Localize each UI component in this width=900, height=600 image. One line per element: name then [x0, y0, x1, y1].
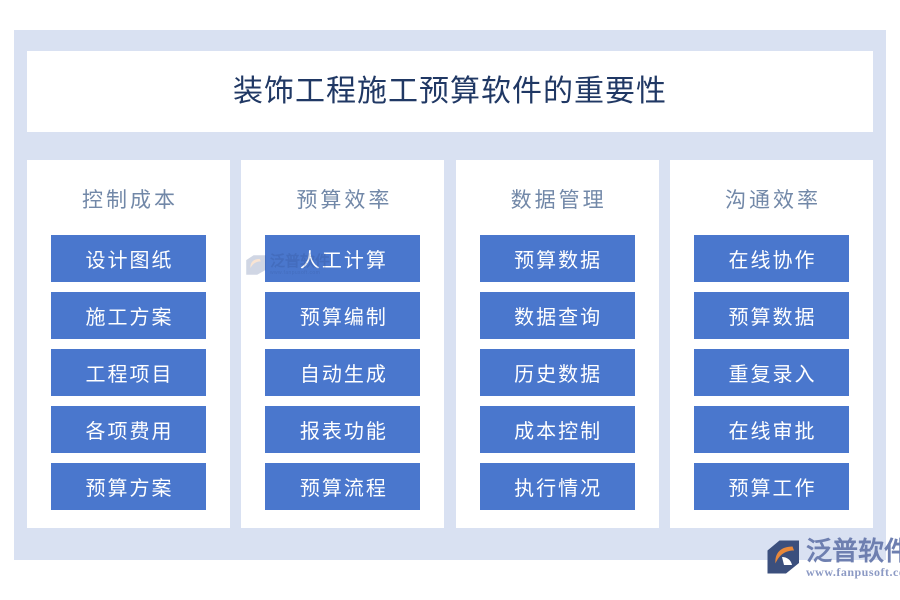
- columns-container: 控制成本 设计图纸 施工方案 工程项目 各项费用 预算方案 预算效率 人工计算 …: [27, 160, 873, 528]
- item-button[interactable]: 预算工作: [694, 463, 849, 510]
- item-button[interactable]: 预算数据: [694, 292, 849, 339]
- column-card-3: 数据管理 预算数据 数据查询 历史数据 成本控制 执行情况: [456, 160, 659, 528]
- item-button[interactable]: 预算数据: [480, 235, 635, 282]
- column-heading-3: 数据管理: [508, 190, 607, 211]
- column-items-4: 在线协作 预算数据 重复录入 在线审批 预算工作: [694, 235, 849, 510]
- item-button[interactable]: 重复录入: [694, 349, 849, 396]
- column-heading-2: 预算效率: [293, 190, 392, 211]
- title-card: 装饰工程施工预算软件的重要性: [27, 51, 873, 132]
- item-button[interactable]: 工程项目: [51, 349, 206, 396]
- column-heading-1: 控制成本: [79, 190, 178, 211]
- column-card-1: 控制成本 设计图纸 施工方案 工程项目 各项费用 预算方案: [27, 160, 230, 528]
- column-card-4: 沟通效率 在线协作 预算数据 重复录入 在线审批 预算工作: [670, 160, 873, 528]
- item-button[interactable]: 设计图纸: [51, 235, 206, 282]
- column-items-3: 预算数据 数据查询 历史数据 成本控制 执行情况: [480, 235, 635, 510]
- fanpu-logo-icon: [766, 539, 802, 575]
- column-items-1: 设计图纸 施工方案 工程项目 各项费用 预算方案: [51, 235, 206, 510]
- column-items-2: 人工计算 预算编制 自动生成 报表功能 预算流程: [265, 235, 420, 510]
- item-button[interactable]: 成本控制: [480, 406, 635, 453]
- page-title: 装饰工程施工预算软件的重要性: [233, 77, 667, 107]
- column-card-2: 预算效率 人工计算 预算编制 自动生成 报表功能 预算流程: [241, 160, 444, 528]
- brand-logo: 泛普软件 www.fanpusoft.com: [766, 538, 900, 579]
- item-button[interactable]: 各项费用: [51, 406, 206, 453]
- item-button[interactable]: 人工计算: [265, 235, 420, 282]
- item-button[interactable]: 在线协作: [694, 235, 849, 282]
- item-button[interactable]: 数据查询: [480, 292, 635, 339]
- item-button[interactable]: 自动生成: [265, 349, 420, 396]
- item-button[interactable]: 预算流程: [265, 463, 420, 510]
- item-button[interactable]: 报表功能: [265, 406, 420, 453]
- item-button[interactable]: 预算编制: [265, 292, 420, 339]
- column-heading-4: 沟通效率: [722, 190, 821, 211]
- item-button[interactable]: 执行情况: [480, 463, 635, 510]
- infographic-root: 装饰工程施工预算软件的重要性 控制成本 设计图纸 施工方案 工程项目 各项费用 …: [0, 0, 900, 600]
- logo-url: www.fanpusoft.com: [806, 566, 900, 579]
- logo-name: 泛普软件: [806, 538, 900, 565]
- item-button[interactable]: 在线审批: [694, 406, 849, 453]
- item-button[interactable]: 历史数据: [480, 349, 635, 396]
- item-button[interactable]: 预算方案: [51, 463, 206, 510]
- logo-wordmark: 泛普软件 www.fanpusoft.com: [806, 538, 900, 579]
- item-button[interactable]: 施工方案: [51, 292, 206, 339]
